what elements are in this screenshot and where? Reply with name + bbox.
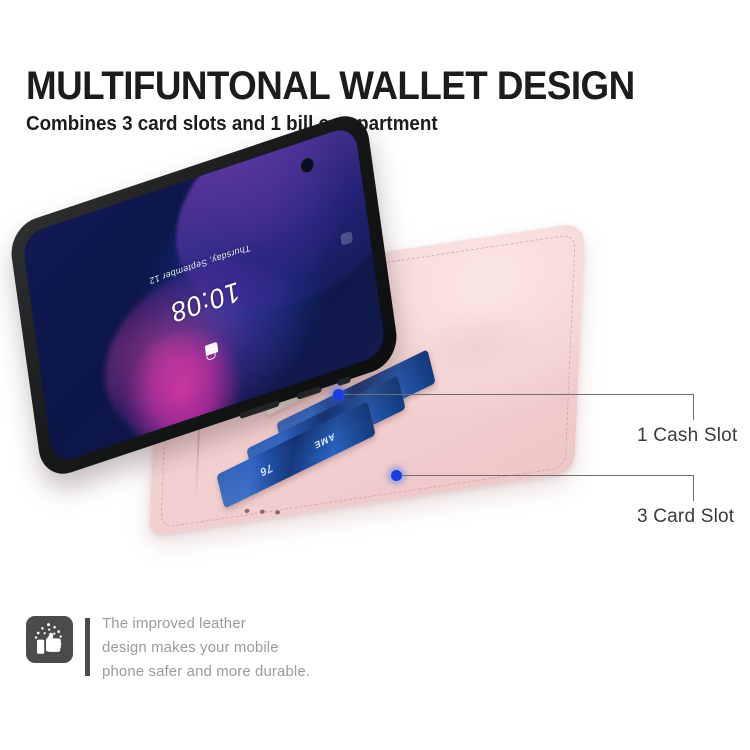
callout-label-cash-slot: 1 Cash Slot xyxy=(637,425,737,447)
thumbs-up-icon xyxy=(26,616,73,663)
callout-line-cash-horizontal xyxy=(343,394,693,395)
feature-line: The improved leather xyxy=(102,612,310,636)
callout-line-card-vertical xyxy=(693,475,694,501)
page-subtitle: Combines 3 card slots and 1 bill compart… xyxy=(26,112,438,136)
feature-line: phone safer and more durable. xyxy=(102,660,310,684)
callout-label-card-slot: 3 Card Slot xyxy=(637,506,734,528)
feature-block: The improved leather design makes your m… xyxy=(26,612,426,702)
feature-line: design makes your mobile xyxy=(102,636,310,660)
feature-divider xyxy=(85,618,90,676)
product-marketing-image: MULTIFUNTONAL WALLET DESIGN Combines 3 c… xyxy=(0,0,750,750)
page-title: MULTIFUNTONAL WALLET DESIGN xyxy=(26,66,635,106)
lock-icon xyxy=(205,342,219,356)
lockscreen-time: 10:08 xyxy=(169,274,242,328)
callout-line-cash-vertical xyxy=(693,394,694,420)
callout-line-card-horizontal xyxy=(401,475,693,476)
product-photo: 76 AME 76 AME 76 AME 10:08 Thursday, Sep… xyxy=(0,160,700,600)
feature-description: The improved leather design makes your m… xyxy=(102,612,310,684)
